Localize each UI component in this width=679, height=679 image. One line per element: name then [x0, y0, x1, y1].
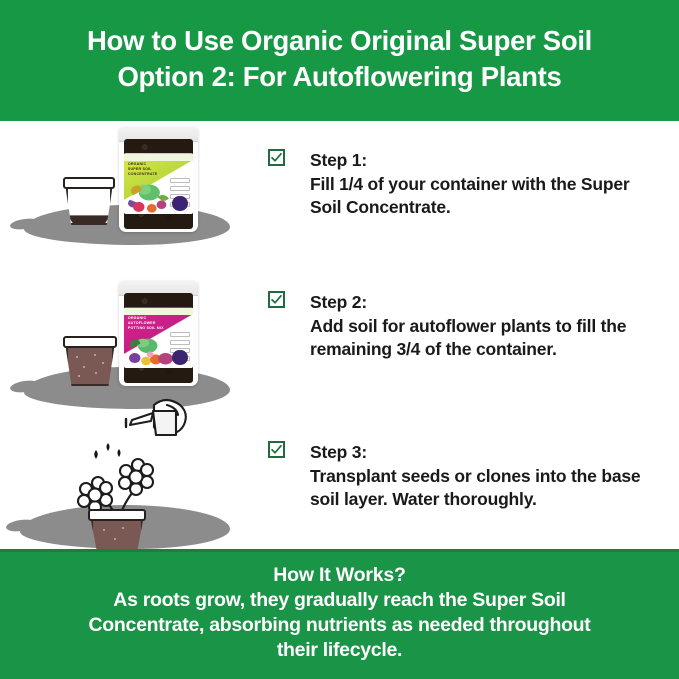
step-1-body: Fill 1/4 of your container with the Supe… [310, 173, 660, 220]
bag-label-text: ORGANICAUTOFLOWERPOTTING SOIL MIX [128, 316, 171, 331]
checkbox-checked-icon [268, 441, 285, 458]
step-3-copy: Step 3: Transplant seeds or clones into … [268, 441, 679, 512]
step-1-illustration: ORGANICSUPER SOILCONCENTRATE [0, 121, 258, 271]
soil-filled-pot [63, 336, 117, 386]
step-2-body: Add soil for autoflower plants to fill t… [310, 315, 660, 362]
footer-line-2: Concentrate, absorbing nutrients as need… [89, 613, 591, 638]
step-row: ORGANICSUPER SOILCONCENTRATE [0, 121, 679, 271]
super-soil-concentrate-bag: ORGANICSUPER SOILCONCENTRATE [119, 127, 198, 232]
pot-soil-fill [93, 520, 141, 551]
header-title-line-2: Option 2: For Autoflowering Plants [117, 59, 561, 95]
step-1-label: Step 1: [310, 149, 679, 173]
step-2-text: Step 2: Add soil for autoflower plants t… [310, 291, 679, 362]
empty-pot [63, 177, 115, 225]
pot-body [66, 347, 115, 386]
footer-line-3: their lifecycle. [277, 638, 402, 663]
bag-label-text: ORGANICSUPER SOILCONCENTRATE [128, 162, 171, 177]
checkbox-checked-icon [268, 149, 285, 166]
bag-label: ORGANICAUTOFLOWERPOTTING SOIL MIX [124, 307, 194, 368]
footer-line-1: As roots grow, they gradually reach the … [113, 588, 565, 613]
pot-body [66, 188, 113, 225]
header-banner: How to Use Organic Original Super Soil O… [0, 0, 679, 121]
step-1-copy: Step 1: Fill 1/4 of your container with … [268, 149, 679, 220]
step-2-label: Step 2: [310, 291, 679, 315]
flower-plant-icon [58, 455, 176, 517]
step-3-illustration [0, 397, 258, 557]
bag-seal-badge [172, 350, 187, 365]
footer-banner: How It Works? As roots grow, they gradua… [0, 549, 679, 679]
pot-rim [88, 509, 146, 521]
header-title-line-1: How to Use Organic Original Super Soil [87, 23, 592, 59]
steps-section: ORGANICSUPER SOILCONCENTRATE [0, 121, 679, 549]
bag-brand-strip [124, 154, 194, 161]
bag-vegetable-art [125, 335, 174, 367]
bag-seal-badge [172, 196, 187, 211]
bag-brand-strip [124, 308, 194, 315]
pot-rim [63, 177, 115, 189]
step-3-text: Step 3: Transplant seeds or clones into … [310, 441, 679, 512]
pot-rim [63, 336, 117, 348]
infographic-poster: How to Use Organic Original Super Soil O… [0, 0, 679, 679]
step-row: Step 3: Transplant seeds or clones into … [0, 431, 679, 549]
planted-pot [88, 509, 146, 553]
step-3-body: Transplant seeds or clones into the base… [310, 465, 660, 512]
checkbox-checked-icon [268, 291, 285, 308]
step-2-copy: Step 2: Add soil for autoflower plants t… [268, 291, 679, 362]
pot-soil-fill [68, 215, 111, 223]
footer-title: How It Works? [273, 563, 405, 588]
bag-vegetable-art [125, 181, 174, 213]
autoflower-potting-soil-mix-bag: ORGANICAUTOFLOWERPOTTING SOIL MIX [119, 281, 198, 386]
pot-soil-fill [68, 347, 113, 384]
step-1-text: Step 1: Fill 1/4 of your container with … [310, 149, 679, 220]
step-3-label: Step 3: [310, 441, 679, 465]
bag-label: ORGANICSUPER SOILCONCENTRATE [124, 153, 194, 214]
